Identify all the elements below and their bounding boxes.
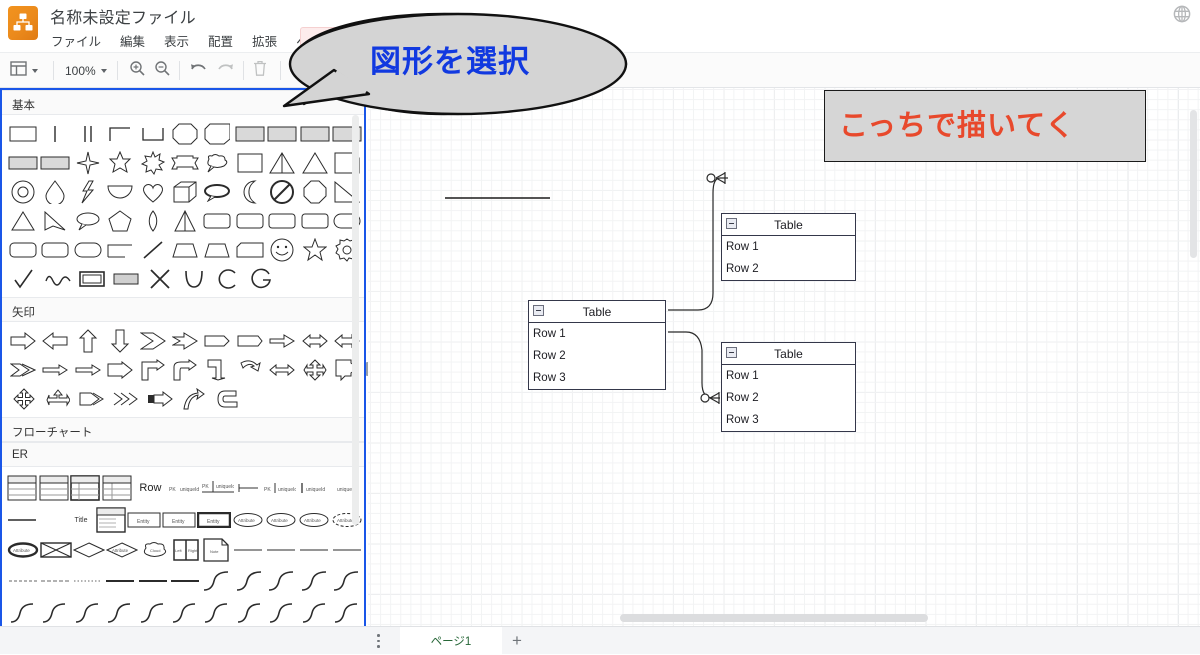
er-spacer	[38, 507, 66, 533]
shape-row: Row PKuniqueId PKuniqueId PKuniqueId uni…	[2, 471, 364, 505]
shape-filled-bar-icon[interactable]	[109, 266, 142, 292]
er-curve-12-icon[interactable]	[202, 600, 233, 626]
er-table-row[interactable]: Row 1	[529, 323, 665, 345]
er-table-title: Table	[583, 305, 612, 319]
zoom-in-button[interactable]	[129, 53, 146, 88]
section-label-er: ER	[12, 449, 28, 461]
er-curve-2-icon[interactable]	[234, 568, 265, 594]
er-table-row[interactable]: Row 3	[722, 409, 855, 431]
shape-heart-icon[interactable]	[137, 179, 168, 205]
shape-diagonal-line-icon[interactable]	[137, 237, 168, 263]
shape-six-point-star-icon[interactable]	[104, 150, 135, 176]
shape-row	[2, 177, 364, 206]
shape-speech-ellipse-icon[interactable]	[72, 208, 103, 234]
shape-zigzag-icon[interactable]	[41, 266, 74, 292]
zoom-level-label: 100%	[65, 64, 96, 78]
drawio-logo-icon	[8, 6, 38, 40]
arrow-double-right-icon[interactable]	[169, 328, 200, 354]
svg-text:uniqueId: uniqueId	[180, 487, 199, 493]
er-attribute-ellipse-bold-icon[interactable]: Attribute	[7, 537, 39, 563]
arrow-outline-right-icon[interactable]	[75, 386, 108, 412]
menu-item-arrange[interactable]: 配置	[207, 30, 234, 51]
shape-row	[2, 148, 364, 177]
trash-icon	[253, 60, 267, 82]
shape-row	[2, 206, 364, 235]
arrow-filled-tail-icon[interactable]	[143, 386, 176, 412]
arrow-simple-right-2-icon[interactable]	[72, 357, 103, 383]
er-diamond-1-icon[interactable]	[73, 537, 105, 563]
section-label-flowchart: フローチャート	[12, 427, 92, 439]
shape-tape-icon[interactable]	[104, 237, 135, 263]
er-entity-rect-2-icon[interactable]: Entity	[162, 507, 196, 533]
shape-moon-icon[interactable]	[234, 179, 265, 205]
canvas-vertical-scrollbar[interactable]	[1190, 110, 1197, 258]
shape-trapezoid-icon[interactable]	[169, 237, 200, 263]
svg-text:Right: Right	[188, 548, 198, 553]
kebab-menu-icon[interactable]	[377, 634, 381, 649]
section-label-basic: 基本	[12, 100, 35, 112]
arrow-thin-right-icon[interactable]	[267, 328, 298, 354]
er-curve-13-icon[interactable]	[234, 600, 265, 626]
arrow-loop-back-icon[interactable]	[211, 386, 244, 412]
shape-rounded-rect-6-icon[interactable]	[39, 237, 70, 263]
layout-icon	[10, 60, 27, 82]
chevron-down-icon	[101, 69, 107, 73]
arrow-up-icon[interactable]	[72, 328, 103, 354]
svg-text:Attribute: Attribute	[238, 518, 255, 523]
er-attribute-ellipse-3-icon[interactable]: Attribute	[298, 507, 330, 533]
shape-donut-icon[interactable]	[7, 179, 38, 205]
arrow-double-head-icon[interactable]	[299, 328, 330, 354]
er-pk-unique-2-icon[interactable]: PKuniqueId	[202, 475, 234, 501]
er-entity-rect-bold-icon[interactable]: Entity	[197, 507, 231, 533]
shape-rounded-rect-3-icon[interactable]	[267, 208, 298, 234]
shape-filled-rect-1-icon[interactable]	[234, 121, 265, 147]
shape-rounded-rect-2-icon[interactable]	[234, 208, 265, 234]
er-table-row[interactable]: Row 2	[529, 345, 665, 367]
er-table-title: Table	[774, 218, 803, 232]
er-title-label[interactable]: Title	[67, 507, 95, 533]
er-table-row[interactable]: Row 2	[722, 387, 855, 409]
page-tab-1[interactable]: ページ1	[400, 627, 502, 655]
shape-section-er[interactable]: ER	[2, 442, 364, 467]
annotation-note-box[interactable]: こっちで描いてく	[824, 90, 1146, 162]
er-entity-table-icon[interactable]	[96, 507, 126, 533]
shape-stadium-2-icon[interactable]	[72, 237, 103, 263]
er-table-left[interactable]: Table Row 1 Row 2 Row 3	[528, 300, 666, 390]
shape-filled-rect-2-icon[interactable]	[267, 121, 298, 147]
arrow-flat-2-icon[interactable]	[234, 328, 265, 354]
shape-section-basic-body	[2, 115, 364, 297]
add-page-button[interactable]: +	[512, 632, 522, 649]
er-line-solid-1-icon[interactable]	[232, 537, 264, 563]
shape-section-er-body: Row PKuniqueId PKuniqueId PKuniqueId uni…	[2, 467, 364, 633]
undo-button[interactable]	[189, 53, 208, 88]
shape-rounded-rect-1-icon[interactable]	[202, 208, 233, 234]
svg-text:Entity: Entity	[172, 519, 185, 525]
layout-button[interactable]	[10, 53, 38, 88]
shape-cube-icon[interactable]	[169, 179, 200, 205]
shape-no-entry-icon[interactable]	[267, 179, 298, 205]
page-footer: ページ1 +	[0, 626, 1200, 654]
shape-leaf-icon[interactable]	[137, 208, 168, 234]
er-table-4-icon[interactable]	[101, 475, 131, 501]
shape-row	[2, 264, 364, 293]
shape-double-line-icon[interactable]	[72, 121, 103, 147]
page-tab-label: ページ1	[431, 633, 472, 649]
shape-vertical-line-icon[interactable]	[39, 121, 70, 147]
annotation-callout-text: 図形を選択	[370, 36, 530, 81]
shape-panel[interactable]: 基本	[0, 88, 366, 654]
delete-button[interactable]	[253, 53, 267, 88]
shape-star-icon[interactable]	[299, 237, 330, 263]
er-line-thick-1-icon[interactable]	[104, 568, 135, 594]
shape-card-icon[interactable]	[234, 237, 265, 263]
shape-smiley-icon[interactable]	[267, 237, 298, 263]
er-table-header[interactable]: Table	[722, 214, 855, 236]
shape-section-arrows[interactable]: 矢印	[2, 297, 364, 322]
shape-pentagon-icon[interactable]	[104, 208, 135, 234]
shape-arrow-triangle-icon[interactable]	[39, 208, 70, 234]
menu-item-view[interactable]: 表示	[163, 30, 190, 51]
toolbar-separator-1	[53, 61, 54, 80]
shape-row: Attribute Attribute Cloud LeftRight Note	[2, 535, 364, 565]
shape-rounded-rect-4-icon[interactable]	[299, 208, 330, 234]
shape-panel-scrollbar[interactable]	[352, 115, 359, 525]
er-row-label[interactable]: Row	[133, 475, 168, 501]
document-title[interactable]: 名称未設定ファイル	[50, 4, 196, 28]
er-table-row[interactable]: Row 1	[722, 236, 855, 258]
menu-item-file[interactable]: ファイル	[50, 30, 102, 51]
er-pk-unique-1-icon[interactable]: PKuniqueId	[169, 475, 201, 501]
er-curve-6-icon[interactable]	[7, 600, 38, 626]
arrow-four-way-icon[interactable]	[299, 357, 330, 383]
shape-trapezoid-2-icon[interactable]	[202, 237, 233, 263]
chevron-down-icon	[32, 69, 38, 73]
arrow-three-way-icon[interactable]	[41, 386, 74, 412]
zoom-out-button[interactable]	[154, 53, 171, 88]
undo-icon	[189, 61, 208, 81]
er-curve-8-icon[interactable]	[72, 600, 103, 626]
shape-cone-icon[interactable]	[169, 208, 200, 234]
arrow-flat-icon[interactable]	[202, 328, 233, 354]
er-curve-11-icon[interactable]	[169, 600, 200, 626]
svg-text:Entity: Entity	[207, 519, 220, 525]
arrow-cross-four-icon[interactable]	[7, 386, 40, 412]
svg-text:uniqueId: uniqueId	[216, 484, 234, 490]
shape-section-arrows-body	[2, 322, 364, 417]
svg-text:PK: PK	[264, 487, 271, 493]
er-line-solid-4-icon[interactable]	[331, 537, 363, 563]
shape-filled-rect-5-icon[interactable]	[7, 150, 38, 176]
redo-button[interactable]	[216, 53, 235, 88]
arrow-chevron-pair-icon[interactable]	[109, 386, 142, 412]
svg-text:Left: Left	[175, 548, 183, 553]
er-table-header[interactable]: Table	[529, 301, 665, 323]
svg-text:Attribute: Attribute	[304, 518, 321, 523]
er-entity-rect-1-icon[interactable]: Entity	[127, 507, 161, 533]
svg-text:PK: PK	[202, 484, 209, 490]
annotation-callout[interactable]: 図形を選択	[274, 8, 634, 118]
shape-row: Title Entity Entity Entity Attribute Att…	[2, 505, 364, 535]
er-line-thick-3-icon[interactable]	[169, 568, 200, 594]
arrow-left-icon[interactable]	[39, 328, 70, 354]
er-pk-unique-3-icon[interactable]: PKuniqueId	[264, 475, 296, 501]
svg-text:Attribute: Attribute	[112, 548, 129, 553]
shape-u-icon[interactable]	[177, 266, 210, 292]
er-line-solid-2-icon[interactable]	[265, 537, 297, 563]
shape-cloud-callout-icon[interactable]	[202, 150, 233, 176]
er-curve-14-icon[interactable]	[267, 600, 298, 626]
er-unique-id-1-icon[interactable]: uniqueId	[298, 475, 330, 501]
svg-text:Entity: Entity	[137, 519, 150, 525]
er-attribute-bar-icon[interactable]	[236, 475, 264, 501]
annotation-note-text: こっちで描いてく	[839, 102, 1075, 144]
diagram-canvas[interactable]: こっちで描いてく Table Row 1 Row 2 Row 3 Table R…	[368, 88, 1200, 626]
canvas-horizontal-scrollbar[interactable]	[620, 614, 928, 622]
redo-icon	[216, 61, 235, 81]
er-curve-4-icon[interactable]	[299, 568, 330, 594]
shape-row	[2, 565, 364, 597]
collapse-icon[interactable]	[726, 347, 737, 358]
shape-half-circle-icon[interactable]	[104, 179, 135, 205]
arrow-bend-up-right-icon[interactable]	[137, 357, 168, 383]
zoom-in-icon	[129, 60, 146, 82]
svg-text:PK: PK	[169, 487, 176, 493]
arrow-right-icon[interactable]	[7, 328, 38, 354]
shape-ellipse-callout-icon[interactable]	[202, 179, 233, 205]
er-two-column-icon[interactable]: LeftRight	[172, 537, 200, 563]
shape-rectangle-icon[interactable]	[7, 121, 38, 147]
globe-icon[interactable]	[1172, 4, 1192, 24]
er-table-title: Table	[774, 347, 803, 361]
arrow-box-right-icon[interactable]	[104, 357, 135, 383]
er-table-1-icon[interactable]	[7, 475, 37, 501]
shape-triangle-3-icon[interactable]	[7, 208, 38, 234]
svg-text:Attribute: Attribute	[13, 548, 30, 553]
shape-rounded-rect-5-icon[interactable]	[7, 237, 38, 263]
svg-text:Attribute: Attribute	[271, 518, 288, 523]
er-table-row[interactable]: Row 2	[722, 258, 855, 280]
er-cloud-icon[interactable]: Cloud	[139, 537, 171, 563]
arrow-curved-icon[interactable]	[177, 386, 210, 412]
shape-corner-bottom-icon[interactable]	[137, 121, 168, 147]
svg-text:uniqueId: uniqueId	[278, 487, 296, 493]
arrow-chevron-double-icon[interactable]	[7, 357, 38, 383]
shape-drop-icon[interactable]	[39, 179, 70, 205]
shape-row	[2, 355, 364, 384]
shape-row	[2, 326, 364, 355]
svg-text:Cloud: Cloud	[150, 548, 160, 553]
er-attribute-ellipse-1-icon[interactable]: Attribute	[232, 507, 264, 533]
collapse-icon[interactable]	[726, 218, 737, 229]
er-curve-1-icon[interactable]	[202, 568, 233, 594]
svg-text:uniqueId: uniqueId	[306, 487, 325, 493]
shape-section-flowchart[interactable]: フローチャート	[2, 417, 364, 442]
er-attribute-ellipse-2-icon[interactable]: Attribute	[265, 507, 297, 533]
shape-banner-icon[interactable]	[169, 150, 200, 176]
er-line-dashed-1-icon[interactable]	[7, 568, 38, 594]
er-table-bottom-right[interactable]: Table Row 1 Row 2 Row 3	[721, 342, 856, 432]
shape-arc-g-icon[interactable]	[245, 266, 278, 292]
er-curve-15-icon[interactable]	[299, 600, 330, 626]
arrow-curve-up-right-icon[interactable]	[169, 357, 200, 383]
shape-arc-c-icon[interactable]	[211, 266, 244, 292]
arrow-simple-right-icon[interactable]	[39, 357, 70, 383]
er-line-thick-2-icon[interactable]	[137, 568, 168, 594]
arrow-circular-icon[interactable]	[234, 357, 265, 383]
shape-lightning-icon[interactable]	[72, 179, 103, 205]
arrow-horizontal-double-icon[interactable]	[267, 357, 298, 383]
menu-item-edit[interactable]: 編集	[119, 30, 146, 51]
er-table-header[interactable]: Table	[722, 343, 855, 365]
svg-text:Note: Note	[210, 549, 219, 554]
er-relationship-box-icon[interactable]	[40, 537, 72, 563]
er-curve-10-icon[interactable]	[137, 600, 168, 626]
shape-filled-rect-6-icon[interactable]	[39, 150, 70, 176]
shape-row	[2, 384, 364, 413]
shape-corner-icon[interactable]	[104, 121, 135, 147]
toolbar-separator-2	[117, 61, 118, 80]
shape-row	[2, 119, 364, 148]
collapse-icon[interactable]	[533, 305, 544, 316]
shape-row	[2, 597, 364, 629]
shape-cut-corner-icon[interactable]	[202, 121, 233, 147]
zoom-out-icon	[154, 60, 171, 82]
shape-window-icon[interactable]	[75, 266, 108, 292]
shape-triangle-2-icon[interactable]	[299, 150, 330, 176]
er-line-dashed-2-icon[interactable]	[39, 568, 70, 594]
er-curve-3-icon[interactable]	[267, 568, 298, 594]
er-table-2-icon[interactable]	[38, 475, 68, 501]
shape-octagon-icon[interactable]	[169, 121, 200, 147]
shape-filled-rect-3-icon[interactable]	[299, 121, 330, 147]
er-table-3-icon[interactable]	[70, 475, 100, 501]
arrow-chevron-icon[interactable]	[137, 328, 168, 354]
shape-triangle-icon[interactable]	[267, 150, 298, 176]
er-curve-16-icon[interactable]	[332, 600, 363, 626]
shape-x-icon[interactable]	[143, 266, 176, 292]
er-table-row[interactable]: Row 3	[529, 367, 665, 389]
er-diamond-2-icon[interactable]: Attribute	[106, 537, 138, 563]
er-note-icon[interactable]: Note	[201, 537, 231, 563]
er-line-icon[interactable]	[7, 507, 37, 533]
shape-octagon-2-icon[interactable]	[299, 179, 330, 205]
toolbar-separator-3	[179, 61, 180, 80]
zoom-dropdown[interactable]: 100%	[65, 53, 107, 88]
shape-burst-icon[interactable]	[137, 150, 168, 176]
er-curve-7-icon[interactable]	[39, 600, 70, 626]
er-curve-5-icon[interactable]	[332, 568, 363, 594]
shape-square-icon[interactable]	[234, 150, 265, 176]
shape-row	[2, 235, 364, 264]
er-line-dotted-icon[interactable]	[72, 568, 103, 594]
section-label-arrows: 矢印	[12, 307, 35, 319]
shape-check-icon[interactable]	[7, 266, 40, 292]
er-table-row[interactable]: Row 1	[722, 365, 855, 387]
arrow-down-icon[interactable]	[104, 328, 135, 354]
shape-four-point-star-icon[interactable]	[72, 150, 103, 176]
er-table-top-right[interactable]: Table Row 1 Row 2	[721, 213, 856, 281]
arrow-u-turn-icon[interactable]	[202, 357, 233, 383]
er-line-solid-3-icon[interactable]	[298, 537, 330, 563]
er-curve-9-icon[interactable]	[104, 600, 135, 626]
toolbar-separator-4	[243, 61, 244, 80]
plus-icon: +	[512, 631, 522, 650]
